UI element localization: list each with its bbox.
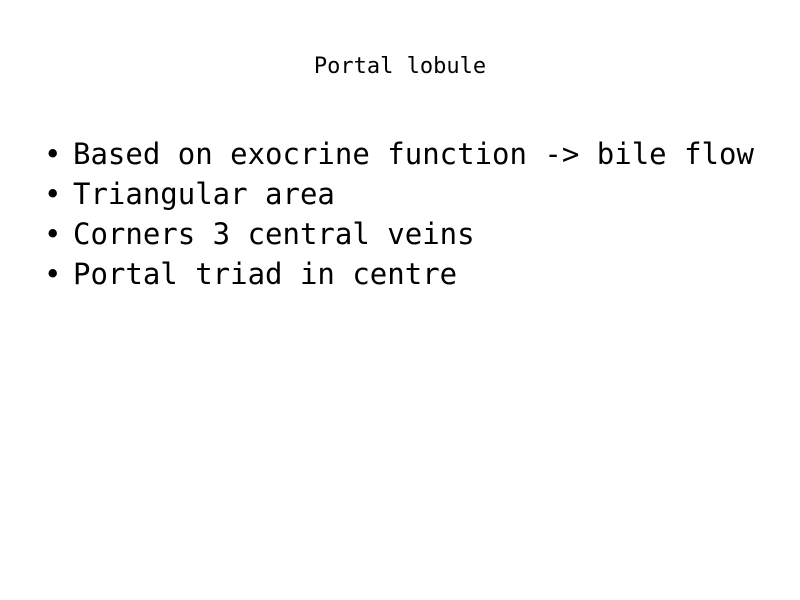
bullet-dot-icon: • [44,254,73,294]
list-item: • Portal triad in centre [44,254,784,294]
slide-canvas: Portal lobule • Based on exocrine functi… [0,0,800,600]
bullet-dot-icon: • [44,174,73,214]
list-item-label: Portal triad in centre [73,254,457,294]
list-item-label: Corners 3 central veins [73,214,475,254]
list-item: • Corners 3 central veins [44,214,784,254]
bullet-list: • Based on exocrine function -> bile flo… [44,134,784,294]
list-item-label: Based on exocrine function -> bile flow [73,134,754,174]
bullet-dot-icon: • [44,214,73,254]
list-item-label: Triangular area [73,174,335,214]
list-item: • Based on exocrine function -> bile flo… [44,134,784,174]
bullet-dot-icon: • [44,134,73,174]
list-item: • Triangular area [44,174,784,214]
page-title: Portal lobule [0,52,800,82]
